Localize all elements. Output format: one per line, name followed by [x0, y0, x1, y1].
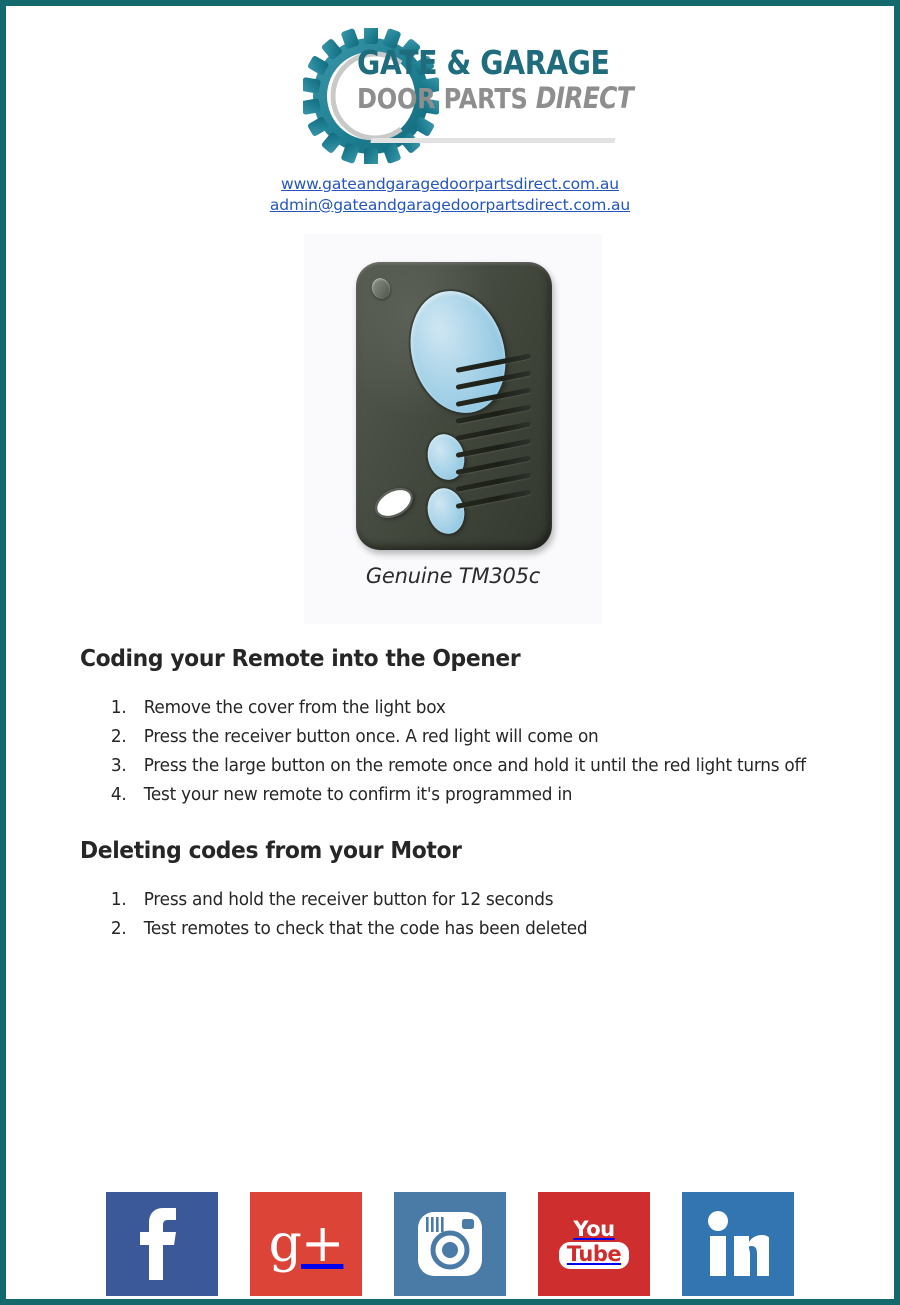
youtube-tube-text: Tube	[567, 1243, 621, 1265]
list-item-number: 3.	[111, 752, 138, 781]
list-item-text: Press and hold the receiver button for 1…	[144, 890, 554, 910]
flyer-page: GATE & GARAGE DOOR PARTS DIRECT www.gate…	[0, 0, 900, 1305]
list-item-text: Press the receiver button once. A red li…	[144, 727, 599, 747]
list-item-text: Remove the cover from the light box	[144, 698, 446, 718]
website-link[interactable]: www.gateandgaragedoorpartsdirect.com.au	[6, 174, 894, 195]
instagram-camera-glyph	[416, 1210, 484, 1278]
product-image-container: Genuine TM305c	[304, 234, 602, 624]
logo-header: GATE & GARAGE DOOR PARTS DIRECT	[6, 20, 894, 168]
list-item: 2.Test remotes to check that the code ha…	[80, 915, 813, 944]
instructions-content: Coding your Remote into the Opener 1.Rem…	[80, 646, 840, 972]
list-item: 1.Press and hold the receiver button for…	[80, 886, 813, 915]
remote-vent-lines	[456, 368, 538, 518]
coding-steps-list: 1.Remove the cover from the light box 2.…	[80, 694, 840, 810]
section-title-coding: Coding your Remote into the Opener	[80, 646, 802, 672]
contact-links: www.gateandgaragedoorpartsdirect.com.au …	[6, 174, 894, 216]
list-item: 1.Remove the cover from the light box	[80, 694, 813, 723]
youtube-wordmark: You Tube	[559, 1219, 629, 1268]
list-item-text: Press the large button on the remote onc…	[144, 756, 806, 776]
section-coding: Coding your Remote into the Opener 1.Rem…	[80, 646, 840, 810]
deleting-steps-list: 1.Press and hold the receiver button for…	[80, 886, 840, 944]
list-item-number: 4.	[111, 781, 138, 810]
google-plus-icon[interactable]: g+	[250, 1192, 362, 1296]
logo-line-2: DOOR PARTS DIRECT	[357, 84, 582, 113]
section-title-deleting: Deleting codes from your Motor	[80, 838, 802, 864]
linkedin-icon[interactable]	[682, 1192, 794, 1296]
remote-keyring-hole	[370, 482, 418, 524]
section-deleting: Deleting codes from your Motor 1.Press a…	[80, 838, 840, 944]
list-item: 4.Test your new remote to confirm it's p…	[80, 781, 813, 810]
google-plus-glyph: g+	[269, 1218, 344, 1270]
list-item-text: Test your new remote to confirm it's pro…	[144, 785, 573, 805]
list-item: 3.Press the large button on the remote o…	[80, 752, 813, 781]
facebook-icon[interactable]	[106, 1192, 218, 1296]
logo-door-parts: DOOR PARTS	[357, 82, 536, 115]
logo-wordmark: GATE & GARAGE DOOR PARTS DIRECT	[357, 46, 619, 113]
list-item-number: 2.	[111, 915, 138, 944]
list-item-number: 1.	[111, 694, 138, 723]
logo-line-1: GATE & GARAGE	[357, 46, 582, 79]
youtube-you-text: You	[573, 1219, 614, 1240]
garage-remote-illustration	[356, 262, 552, 550]
company-logo[interactable]: GATE & GARAGE DOOR PARTS DIRECT	[285, 20, 615, 168]
list-item: 2.Press the receiver button once. A red …	[80, 723, 813, 752]
social-links-row: g+ You Tube	[106, 1192, 794, 1296]
instagram-icon[interactable]	[394, 1192, 506, 1296]
youtube-tube-box: Tube	[559, 1242, 629, 1268]
logo-direct: DIRECT	[536, 81, 633, 115]
product-caption: Genuine TM305c	[304, 564, 602, 588]
linkedin-in-glyph	[707, 1210, 769, 1278]
list-item-text: Test remotes to check that the code has …	[144, 919, 588, 939]
facebook-f-glyph	[132, 1206, 192, 1282]
youtube-icon[interactable]: You Tube	[538, 1192, 650, 1296]
logo-underline-accent	[370, 138, 615, 143]
email-link[interactable]: admin@gateandgaragedoorpartsdirect.com.a…	[6, 195, 894, 216]
remote-led-indicator	[369, 276, 393, 302]
list-item-number: 1.	[111, 886, 138, 915]
list-item-number: 2.	[111, 723, 138, 752]
